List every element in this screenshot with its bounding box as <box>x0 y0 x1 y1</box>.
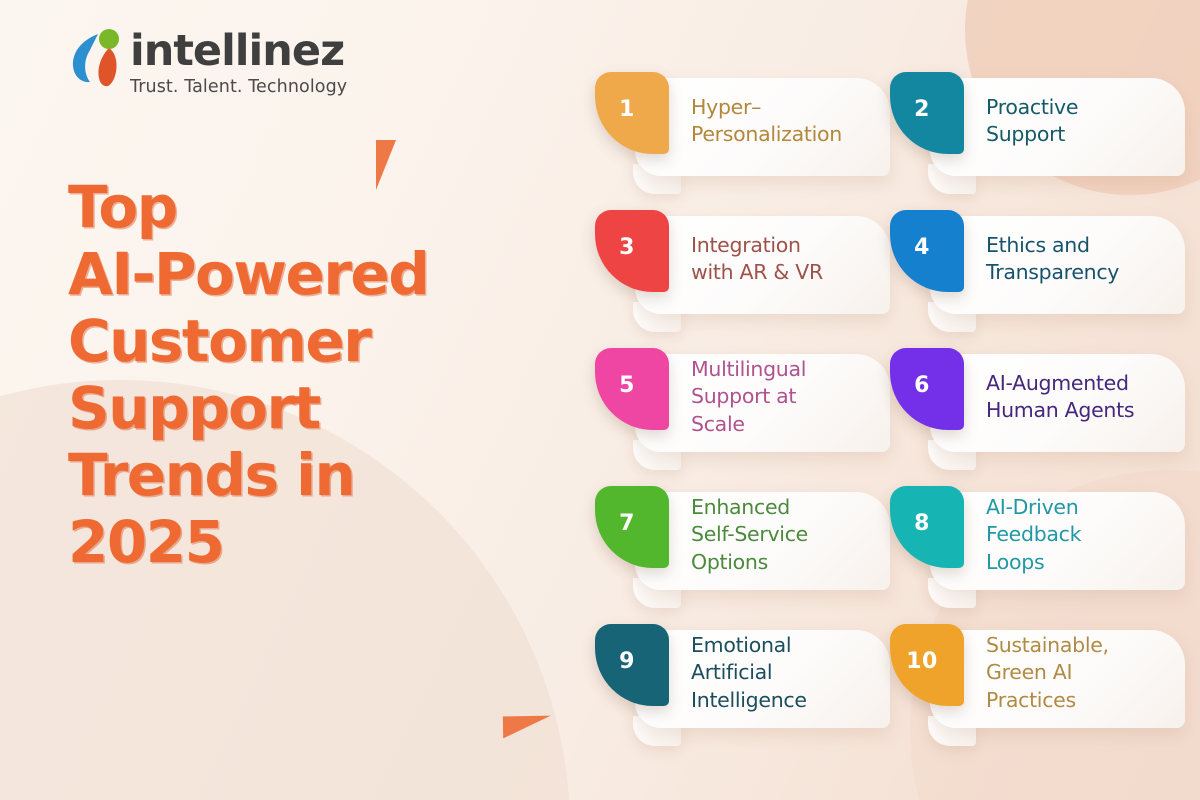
trend-label-container: Multilingual Support at Scale <box>691 348 881 446</box>
trend-card[interactable]: 9Emotional Artificial Intelligence <box>595 624 850 748</box>
infographic-canvas: intellinez Trust. Talent. Technology Top… <box>0 0 1200 800</box>
trend-label: Integration with AR & VR <box>691 232 823 287</box>
brand-name: intellinez <box>130 30 347 73</box>
trend-number-badge: 8 <box>890 486 964 568</box>
trends-list: 1Hyper– Personalization2Proactive Suppor… <box>595 72 1170 748</box>
trend-card[interactable]: 10Sustainable, Green AI Practices <box>890 624 1145 748</box>
trend-card[interactable]: 4Ethics and Transparency <box>890 210 1145 334</box>
trend-label-container: Enhanced Self-Service Options <box>691 486 881 584</box>
trend-label: Proactive Support <box>986 94 1078 149</box>
trend-number: 1 <box>619 99 635 121</box>
trend-number-badge: 3 <box>595 210 669 292</box>
trend-number: 7 <box>619 513 635 535</box>
trend-number: 6 <box>914 375 930 397</box>
trend-number-badge: 6 <box>890 348 964 430</box>
trend-label: AI-Driven Feedback Loops <box>986 494 1081 576</box>
trend-label: Ethics and Transparency <box>986 232 1119 287</box>
trend-number: 2 <box>914 99 930 121</box>
trend-number-badge: 2 <box>890 72 964 154</box>
brand-tagline: Trust. Talent. Technology <box>130 77 347 97</box>
trend-number-badge: 9 <box>595 624 669 706</box>
intellinez-leaf-logo-icon <box>68 28 126 90</box>
trend-number-badge: 10 <box>890 624 964 706</box>
trend-label: Emotional Artificial Intelligence <box>691 632 807 714</box>
trend-label-container: Hyper– Personalization <box>691 72 881 170</box>
trend-card[interactable]: 3Integration with AR & VR <box>595 210 850 334</box>
trend-number: 9 <box>619 651 635 673</box>
trend-card[interactable]: 5Multilingual Support at Scale <box>595 348 850 472</box>
trend-number-badge: 7 <box>595 486 669 568</box>
trend-label-container: Ethics and Transparency <box>986 210 1186 308</box>
trend-label-container: Sustainable, Green AI Practices <box>986 624 1186 722</box>
trend-number: 4 <box>914 237 930 259</box>
trend-number: 5 <box>619 375 635 397</box>
brand-logo[interactable]: intellinez Trust. Talent. Technology <box>68 28 347 97</box>
triangle-accent-icon <box>503 716 551 739</box>
trend-label-container: Emotional Artificial Intelligence <box>691 624 881 722</box>
trend-number: 3 <box>619 237 635 259</box>
trend-label: Multilingual Support at Scale <box>691 356 806 438</box>
trend-label-container: Proactive Support <box>986 72 1186 170</box>
trend-label-container: Integration with AR & VR <box>691 210 881 308</box>
trend-number-badge: 5 <box>595 348 669 430</box>
trend-label: Hyper– Personalization <box>691 94 842 149</box>
trend-card[interactable]: 7Enhanced Self-Service Options <box>595 486 850 610</box>
trend-label: AI-Augmented Human Agents <box>986 370 1134 425</box>
trend-label: Enhanced Self-Service Options <box>691 494 808 576</box>
brand-wordmark: intellinez Trust. Talent. Technology <box>130 28 347 97</box>
trend-number-badge: 4 <box>890 210 964 292</box>
trend-card[interactable]: 6AI-Augmented Human Agents <box>890 348 1145 472</box>
trend-number-badge: 1 <box>595 72 669 154</box>
trend-number: 8 <box>914 513 930 535</box>
trend-label-container: AI-Augmented Human Agents <box>986 348 1186 446</box>
trend-label-container: AI-Driven Feedback Loops <box>986 486 1186 584</box>
trend-card[interactable]: 1Hyper– Personalization <box>595 72 850 196</box>
trend-card[interactable]: 8AI-Driven Feedback Loops <box>890 486 1145 610</box>
trend-label: Sustainable, Green AI Practices <box>986 632 1109 714</box>
page-title: Top AI-Powered Customer Support Trends i… <box>68 174 548 576</box>
trend-card[interactable]: 2Proactive Support <box>890 72 1145 196</box>
trend-number: 10 <box>906 651 938 673</box>
